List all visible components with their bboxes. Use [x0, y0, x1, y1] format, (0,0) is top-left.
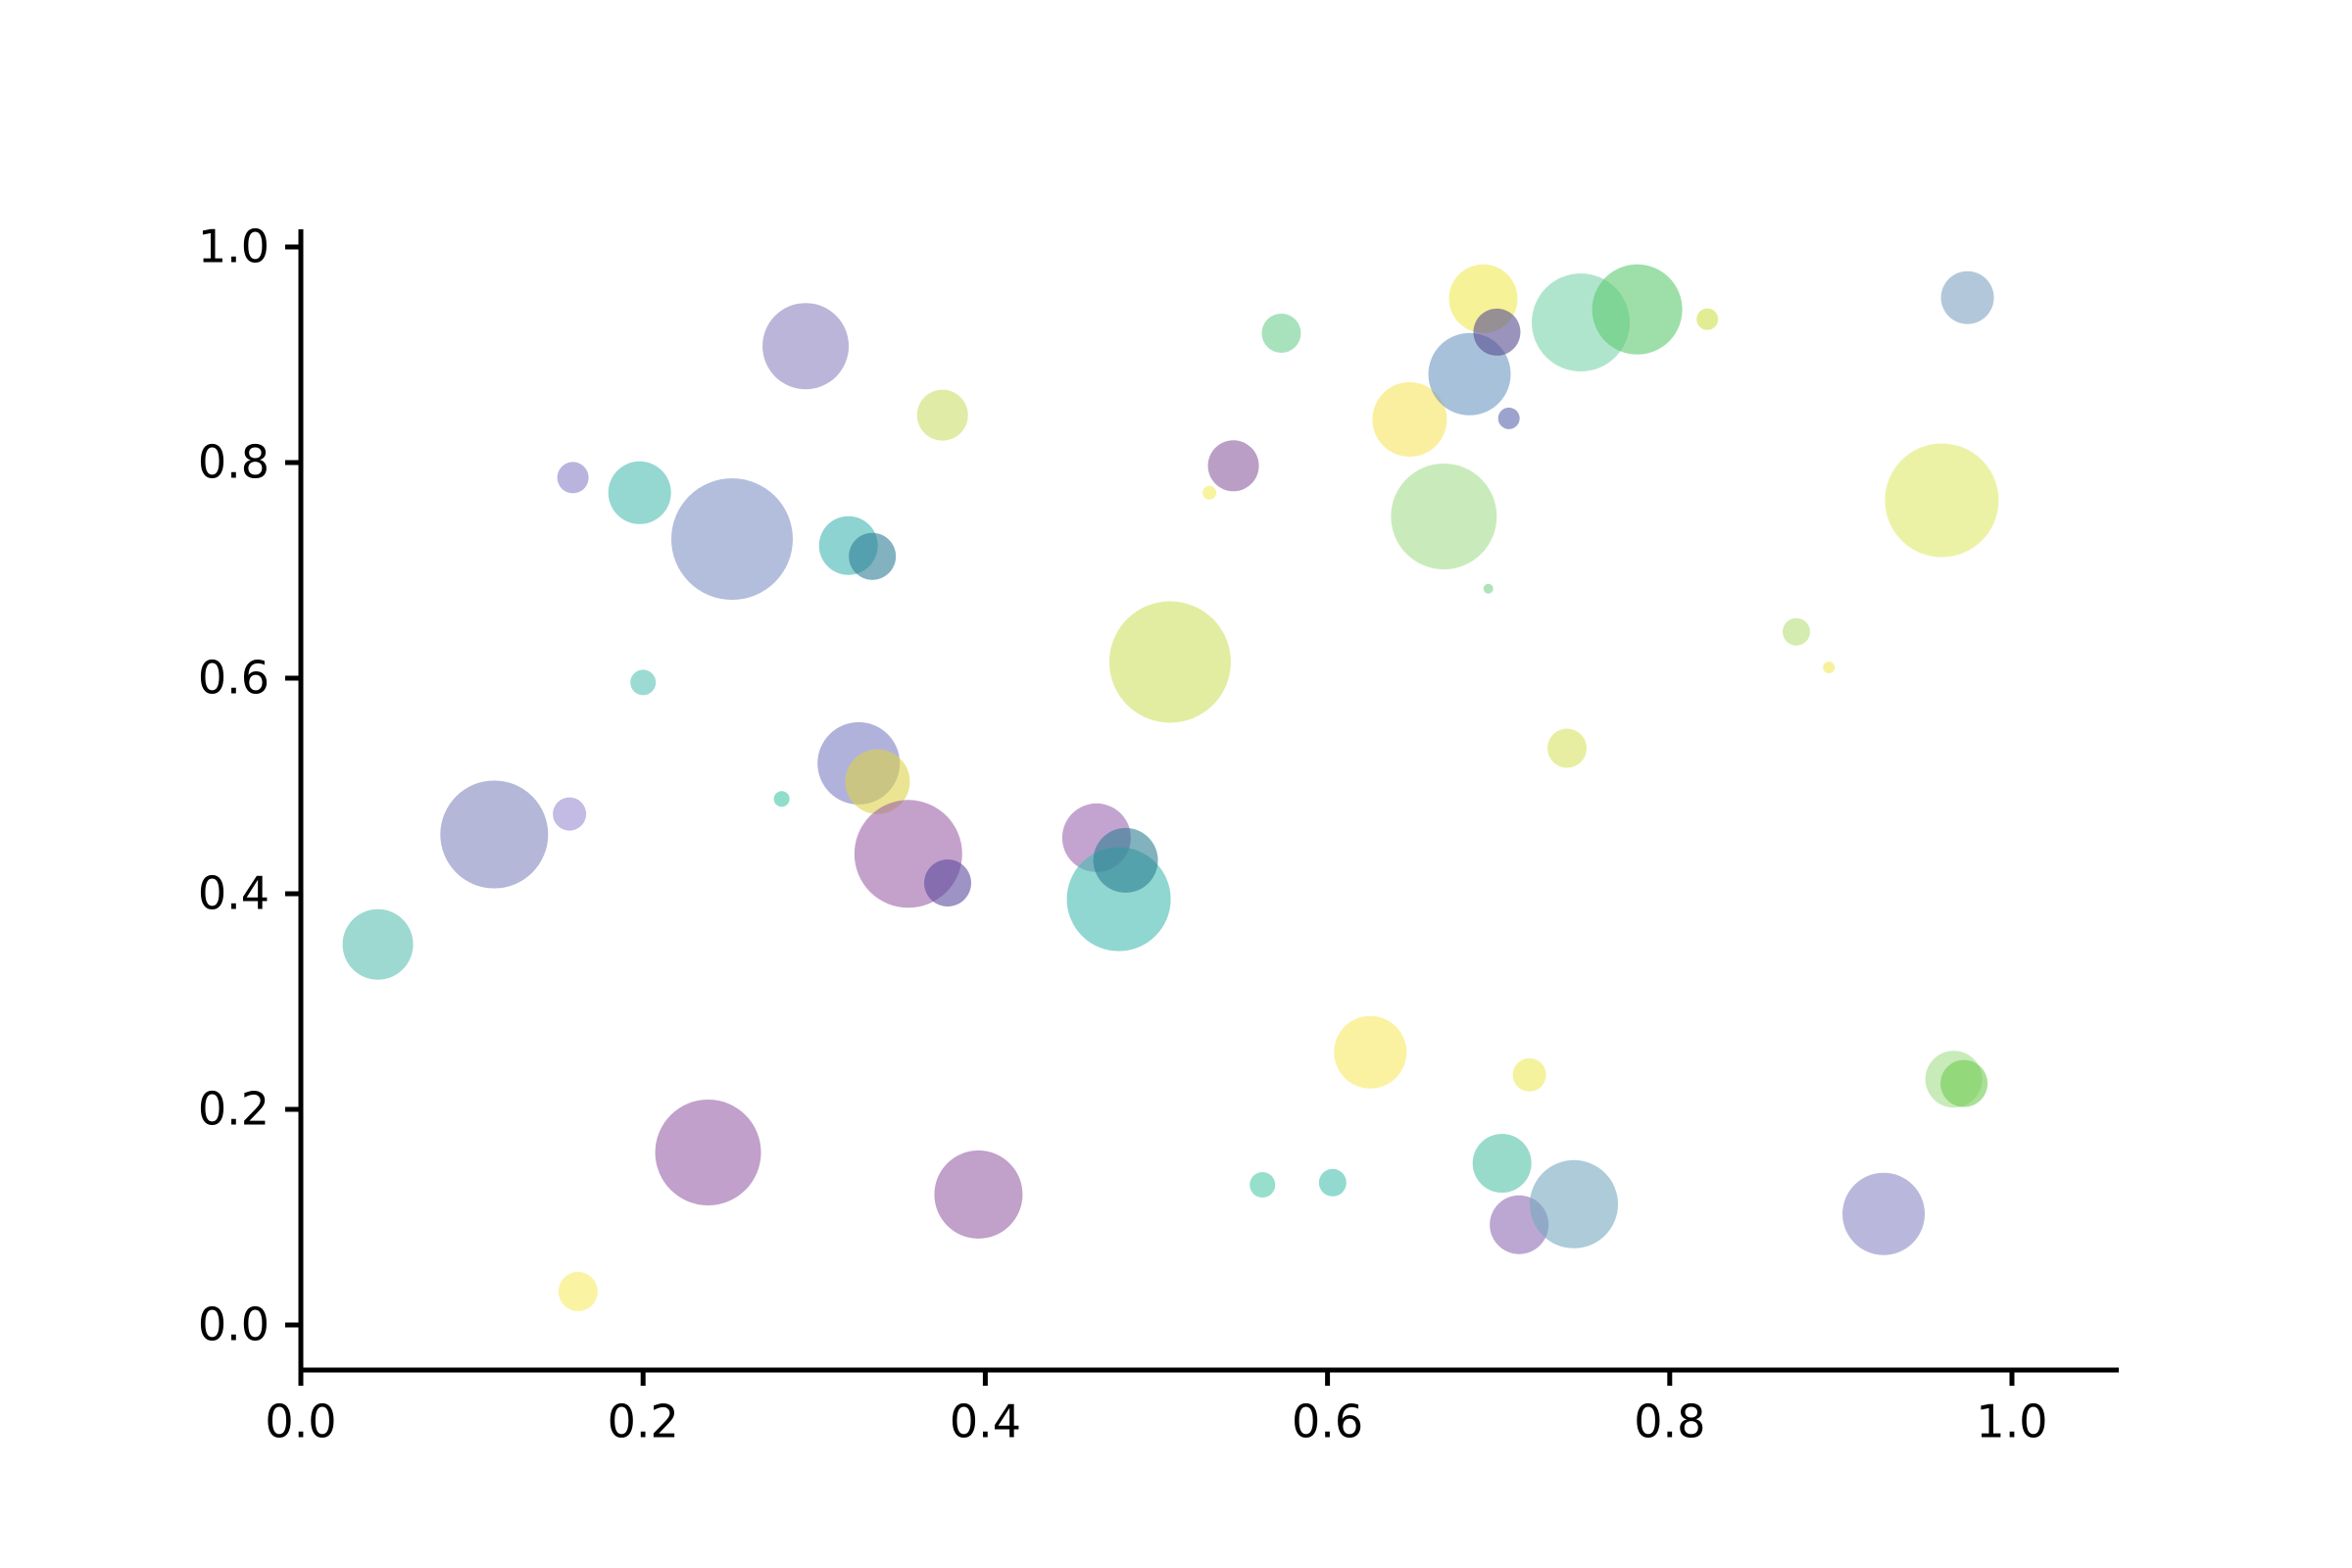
x-tick-label: 0.6 — [1292, 1395, 1363, 1447]
y-tick-label: 0.0 — [198, 1298, 269, 1351]
bubble-point — [1202, 486, 1216, 500]
figure-canvas: 0.00.20.40.60.81.0 0.00.20.40.60.81.0 — [0, 0, 2352, 1568]
bubble-point — [609, 462, 671, 524]
y-tick-label: 0.8 — [198, 436, 269, 489]
bubble-series — [343, 265, 1999, 1311]
bubble-point — [1473, 1134, 1532, 1193]
bubble-point — [1783, 618, 1810, 646]
bubble-point — [1391, 464, 1496, 569]
bubble-point — [1334, 1016, 1406, 1089]
x-axis-ticks: 0.00.20.40.60.81.0 — [265, 1370, 2047, 1447]
bubble-point — [1940, 1060, 1987, 1107]
x-tick-label: 1.0 — [1976, 1395, 2047, 1447]
x-tick-label: 0.2 — [608, 1395, 679, 1447]
y-axis-ticks: 0.00.20.40.60.81.0 — [198, 220, 301, 1351]
bubble-point — [656, 1100, 761, 1205]
bubble-point — [849, 533, 896, 580]
bubble-point — [774, 791, 790, 807]
bubble-point — [1842, 1173, 1925, 1255]
bubble-point — [1498, 408, 1520, 429]
bubble-point — [1885, 444, 1998, 558]
bubble-point — [558, 462, 589, 493]
bubble-point — [1208, 440, 1259, 491]
scatter-plot: 0.00.20.40.60.81.0 0.00.20.40.60.81.0 — [0, 0, 2352, 1568]
x-tick-label: 0.0 — [265, 1395, 336, 1447]
bubble-point — [917, 390, 968, 441]
bubble-point — [1823, 661, 1835, 673]
bubble-point — [1513, 1058, 1546, 1092]
x-tick-label: 0.8 — [1634, 1395, 1705, 1447]
bubble-point — [1696, 309, 1718, 330]
bubble-point — [1547, 729, 1587, 768]
bubble-point — [934, 1151, 1022, 1239]
bubble-point — [440, 781, 548, 889]
bubble-point — [1484, 584, 1494, 594]
bubble-point — [1261, 314, 1300, 353]
bubble-point — [1109, 602, 1231, 723]
bubble-point — [630, 669, 656, 695]
bubble-point — [343, 909, 414, 980]
bubble-point — [1319, 1169, 1347, 1197]
x-tick-label: 0.4 — [950, 1395, 1021, 1447]
bubble-point — [553, 798, 586, 831]
y-tick-label: 0.4 — [198, 867, 269, 920]
bubble-point — [1530, 1160, 1618, 1249]
bubble-point — [1249, 1172, 1275, 1198]
bubble-point — [1473, 309, 1520, 356]
bubble-point — [559, 1272, 598, 1311]
bubble-point — [1941, 271, 1994, 324]
y-tick-label: 1.0 — [198, 220, 269, 273]
bubble-point — [924, 859, 971, 906]
y-tick-label: 0.6 — [198, 652, 269, 705]
bubble-point — [1592, 265, 1683, 355]
y-tick-label: 0.2 — [198, 1083, 269, 1136]
bubble-point — [671, 478, 793, 600]
bubble-point — [1094, 828, 1158, 893]
bubble-point — [762, 303, 849, 389]
